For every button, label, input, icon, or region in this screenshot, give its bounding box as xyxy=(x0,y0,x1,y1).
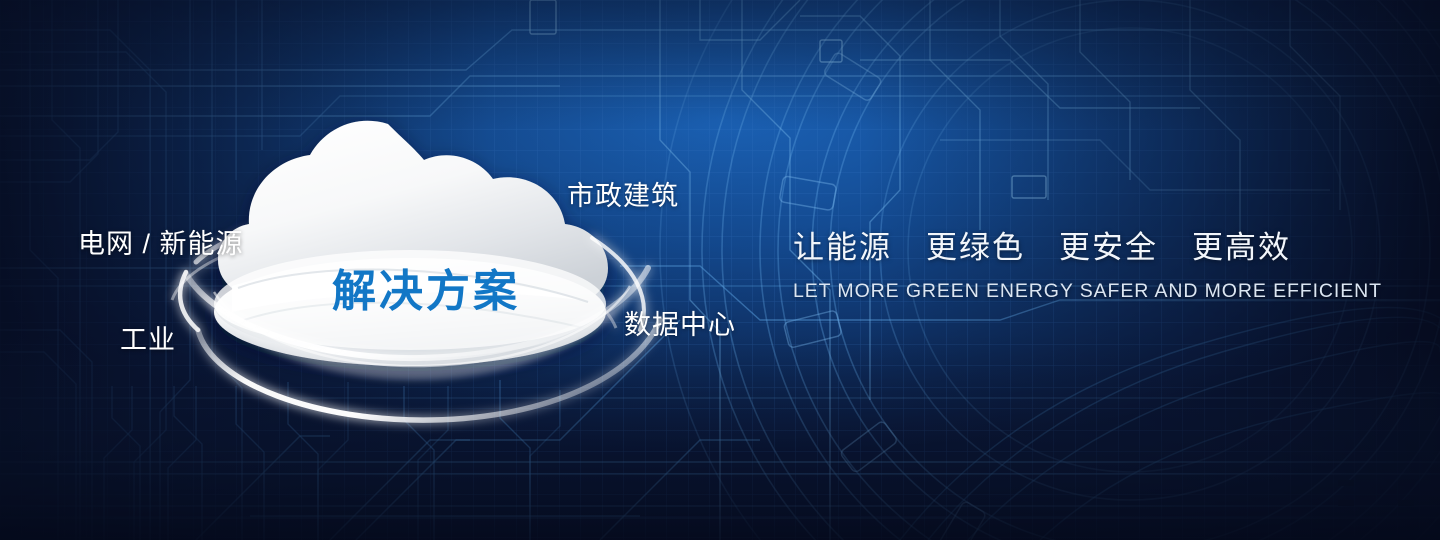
cloud-title-solution: 解决方案 xyxy=(332,255,520,319)
cloud-label-municipal: 市政建筑 xyxy=(567,174,679,213)
slogan-chinese: 让能源 更绿色 更安全 更高效 xyxy=(793,222,1382,267)
slogan-block: 让能源 更绿色 更安全 更高效 LET MORE GREEN ENERGY SA… xyxy=(793,222,1382,303)
solution-banner: 电网 / 新能源 工业 市政建筑 数据中心 解决方案 让能源 更绿色 更安全 更… xyxy=(0,0,1440,540)
cloud-label-grid-new-energy: 电网 / 新能源 xyxy=(78,222,244,261)
slogan-part-1: 让能源 xyxy=(793,222,892,267)
cloud-label-industry: 工业 xyxy=(120,318,176,357)
slogan-part-4: 更高效 xyxy=(1192,222,1291,267)
slogan-part-3: 更安全 xyxy=(1059,222,1158,267)
cloud-icon xyxy=(214,121,608,366)
cloud-label-data-center: 数据中心 xyxy=(624,303,736,342)
slogan-part-2: 更绿色 xyxy=(926,222,1025,267)
slogan-english: LET MORE GREEN ENERGY SAFER AND MORE EFF… xyxy=(793,280,1382,303)
